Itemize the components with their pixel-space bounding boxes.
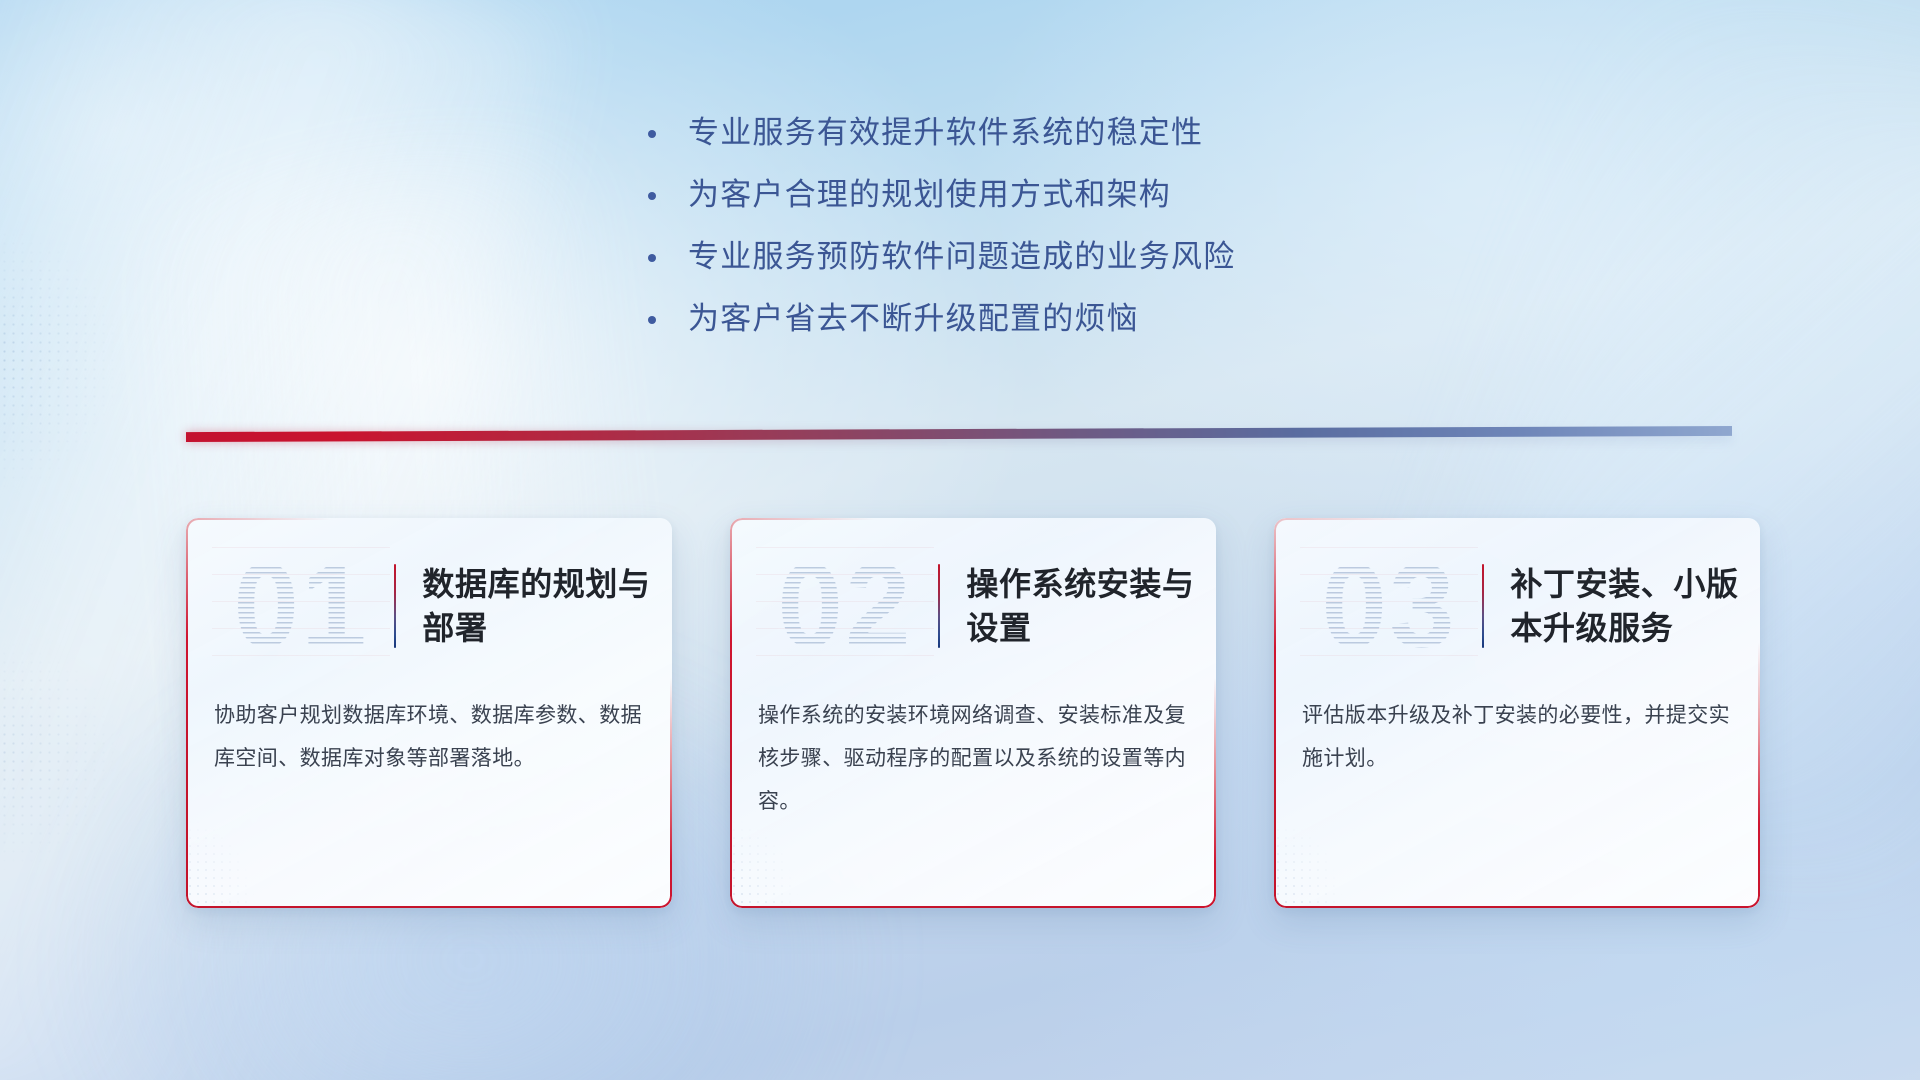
card-title-rule	[394, 564, 396, 648]
card-number-watermark: 01	[212, 547, 390, 665]
card-number-watermark: 02	[756, 547, 934, 665]
section-divider	[186, 426, 1732, 442]
bullet-text: 专业服务预防软件问题造成的业务风险	[688, 237, 1235, 277]
card-description: 评估版本升级及补丁安装的必要性，并提交实施计划。	[1274, 694, 1760, 780]
bullet-dot-icon	[648, 254, 656, 262]
card-description: 协助客户规划数据库环境、数据库参数、数据库空间、数据库对象等部署落地。	[186, 694, 672, 780]
slide-root: 专业服务有效提升软件系统的稳定性 为客户合理的规划使用方式和架构 专业服务预防软…	[0, 0, 1920, 1080]
dot-pattern-upper-left	[0, 230, 120, 490]
card-number-watermark: 03	[1300, 547, 1478, 665]
card-header: 03 补丁安装、小版本升级服务	[1274, 518, 1760, 694]
card-title-rule	[938, 564, 940, 648]
list-item: 为客户合理的规划使用方式和架构	[648, 175, 1408, 215]
card-description: 操作系统的安装环境网络调查、安装标准及复核步骤、驱动程序的配置以及系统的设置等内…	[730, 694, 1216, 823]
card-title: 补丁安装、小版本升级服务	[1510, 562, 1746, 650]
bullet-dot-icon	[648, 130, 656, 138]
bullet-text: 为客户省去不断升级配置的烦恼	[688, 299, 1139, 339]
card-title: 数据库的规划与部署	[422, 562, 658, 650]
service-card-list: 01 数据库的规划与部署 协助客户规划数据库环境、数据库参数、数据库空间、数据库…	[186, 518, 1760, 908]
service-card[interactable]: 03 补丁安装、小版本升级服务 评估版本升级及补丁安装的必要性，并提交实施计划。	[1274, 518, 1760, 908]
benefits-list: 专业服务有效提升软件系统的稳定性 为客户合理的规划使用方式和架构 专业服务预防软…	[648, 113, 1408, 361]
list-item: 专业服务预防软件问题造成的业务风险	[648, 237, 1408, 277]
card-header: 01 数据库的规划与部署	[186, 518, 672, 694]
bullet-text: 专业服务有效提升软件系统的稳定性	[688, 113, 1203, 153]
bullet-dot-icon	[648, 316, 656, 324]
service-card[interactable]: 01 数据库的规划与部署 协助客户规划数据库环境、数据库参数、数据库空间、数据库…	[186, 518, 672, 908]
list-item: 为客户省去不断升级配置的烦恼	[648, 299, 1408, 339]
card-header: 02 操作系统安装与设置	[730, 518, 1216, 694]
service-card[interactable]: 02 操作系统安装与设置 操作系统的安装环境网络调查、安装标准及复核步骤、驱动程…	[730, 518, 1216, 908]
list-item: 专业服务有效提升软件系统的稳定性	[648, 113, 1408, 153]
bullet-text: 为客户合理的规划使用方式和架构	[688, 175, 1171, 215]
bullet-dot-icon	[648, 192, 656, 200]
card-title: 操作系统安装与设置	[966, 562, 1202, 650]
dot-pattern-lower-left	[0, 640, 120, 870]
card-title-rule	[1482, 564, 1484, 648]
